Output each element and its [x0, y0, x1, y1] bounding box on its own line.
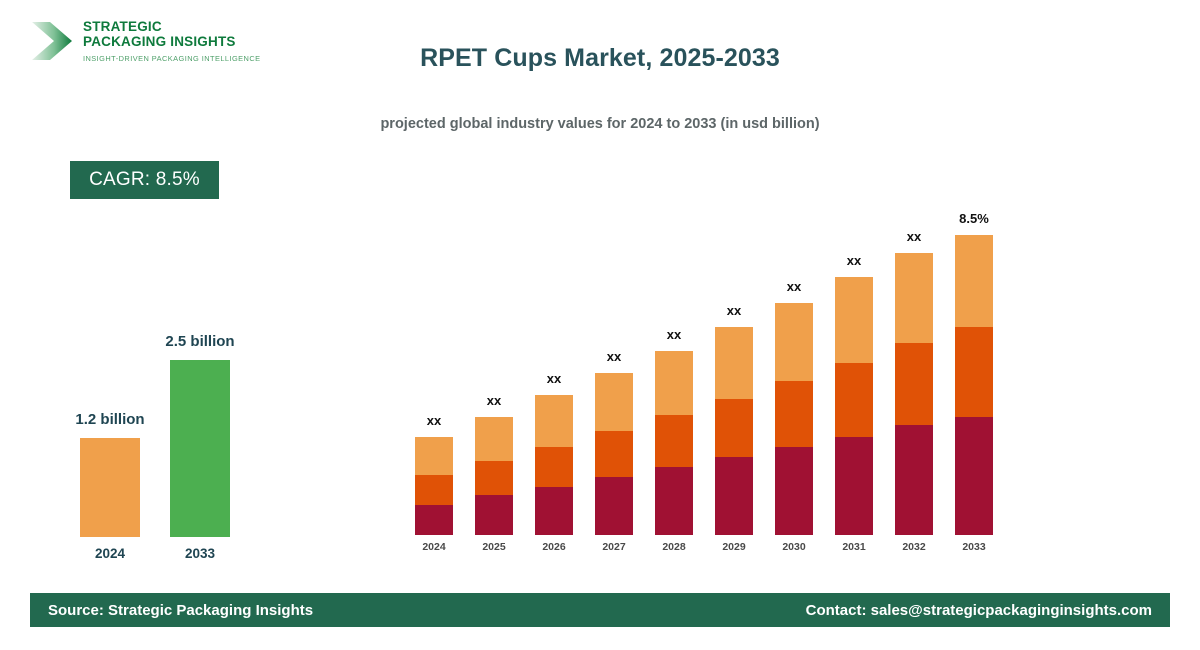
stacked-bar-segment-segment-3: [775, 303, 813, 381]
stacked-bar-year-label: 2027: [602, 541, 625, 553]
stacked-bar-segment-segment-2: [835, 363, 873, 437]
stacked-bar-year-label: 2032: [902, 541, 925, 553]
comparison-bar-value-label: 2.5 billion: [165, 333, 234, 350]
stacked-bar-segment-segment-1: [535, 487, 573, 535]
stacked-bar-segment-segment-3: [895, 253, 933, 343]
stacked-bar: xx2029: [715, 327, 753, 535]
stacked-bar-segment-segment-3: [415, 437, 453, 475]
stacked-bar-value-label: xx: [727, 303, 741, 318]
stacked-bar-segment-segment-1: [895, 425, 933, 535]
stacked-bar-segment-segment-2: [715, 399, 753, 457]
infographic-page: STRATEGIC PACKAGING INSIGHTS INSIGHT-DRI…: [0, 0, 1200, 650]
comparison-bar: 1.2 billion2024: [80, 438, 140, 537]
stacked-bar-value-label: xx: [847, 253, 861, 268]
comparison-bar-chart: 1.2 billion20242.5 billion2033: [0, 0, 330, 650]
comparison-bar-rect: [80, 438, 140, 537]
stacked-bar-segment-segment-2: [895, 343, 933, 425]
stacked-bar-segment-segment-2: [955, 327, 993, 417]
stacked-bar-segment-segment-3: [535, 395, 573, 447]
comparison-bar-year-label: 2033: [185, 546, 215, 561]
stacked-bar-value-label: xx: [487, 393, 501, 408]
stacked-bar-year-label: 2033: [962, 541, 985, 553]
stacked-bar-segment-segment-3: [835, 277, 873, 363]
stacked-bar-year-label: 2029: [722, 541, 745, 553]
stacked-bar-year-label: 2030: [782, 541, 805, 553]
stacked-bar-segment-segment-3: [955, 235, 993, 327]
stacked-bar: xx2030: [775, 303, 813, 535]
stacked-bar: xx2031: [835, 277, 873, 535]
stacked-bar-segment-segment-2: [415, 475, 453, 505]
stacked-bar-segment-segment-3: [655, 351, 693, 415]
stacked-bar-segment-segment-2: [595, 431, 633, 477]
stacked-bar-value-label: xx: [907, 229, 921, 244]
stacked-bar: xx2028: [655, 351, 693, 535]
stacked-bar: xx2025: [475, 417, 513, 535]
footer-contact: Contact: sales@strategicpackaginginsight…: [806, 602, 1152, 619]
stacked-bar-segment-segment-3: [715, 327, 753, 399]
stacked-bar-segment-segment-2: [655, 415, 693, 467]
footer-source: Source: Strategic Packaging Insights: [48, 602, 313, 619]
stacked-bar-value-label: xx: [547, 371, 561, 386]
stacked-bar-segment-segment-2: [475, 461, 513, 495]
stacked-bar-year-label: 2028: [662, 541, 685, 553]
comparison-bar-rect: [170, 360, 230, 537]
stacked-bar: xx2027: [595, 373, 633, 535]
stacked-bar-segment-segment-1: [775, 447, 813, 535]
stacked-bar-segment-segment-1: [835, 437, 873, 535]
stacked-bar-year-label: 2026: [542, 541, 565, 553]
stacked-bar-segment-segment-1: [415, 505, 453, 535]
comparison-bar-year-label: 2024: [95, 546, 125, 561]
stacked-bar-year-label: 2025: [482, 541, 505, 553]
stacked-bar-segment-segment-1: [475, 495, 513, 535]
stacked-bar-segment-segment-1: [715, 457, 753, 535]
stacked-bar-segment-segment-3: [475, 417, 513, 461]
stacked-bar: xx2024: [415, 437, 453, 535]
stacked-bar-value-label: xx: [427, 413, 441, 428]
comparison-bar-value-label: 1.2 billion: [75, 411, 144, 428]
stacked-bar-year-label: 2024: [422, 541, 445, 553]
stacked-bar: 8.5%2033: [955, 235, 993, 535]
stacked-bar-segment-segment-1: [955, 417, 993, 535]
footer-bar: Source: Strategic Packaging Insights Con…: [30, 593, 1170, 627]
stacked-bar-segment-segment-2: [775, 381, 813, 447]
stacked-bar-segment-segment-3: [595, 373, 633, 431]
stacked-bar-segment-segment-1: [655, 467, 693, 535]
stacked-bar-segment-segment-2: [535, 447, 573, 487]
stacked-bar-chart: xx2024xx2025xx2026xx2027xx2028xx2029xx20…: [405, 0, 1025, 650]
stacked-bar-value-label: xx: [667, 327, 681, 342]
stacked-bar-segment-segment-1: [595, 477, 633, 535]
stacked-bar-year-label: 2031: [842, 541, 865, 553]
stacked-bar-value-label: 8.5%: [959, 211, 989, 226]
comparison-bar: 2.5 billion2033: [170, 360, 230, 537]
stacked-bar-value-label: xx: [607, 349, 621, 364]
stacked-bar: xx2026: [535, 395, 573, 535]
stacked-bar: xx2032: [895, 253, 933, 535]
stacked-bar-value-label: xx: [787, 279, 801, 294]
